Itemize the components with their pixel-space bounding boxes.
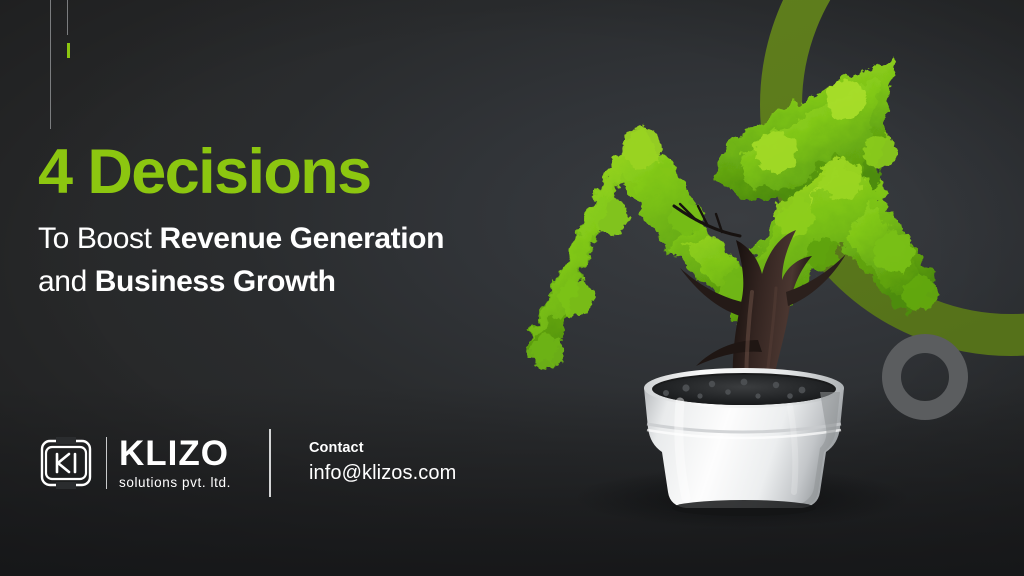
gray-donut-ring [882, 334, 968, 420]
contact-email[interactable]: info@klizos.com [309, 461, 456, 486]
contact-label: Contact [309, 440, 456, 457]
brand-wordmark: KLIZO solutions pvt. ltd. [119, 436, 231, 490]
contact-block: Contact info@klizos.com [309, 440, 456, 485]
page-title: 4 Decisions [38, 140, 508, 204]
green-accent-tick [67, 43, 70, 58]
brand-bar: KLIZO solutions pvt. ltd. Contact info@k… [38, 428, 456, 498]
brand-name: KLIZO [119, 436, 231, 471]
logo-separator [106, 437, 107, 489]
subtitle-line2-bold: Business Growth [95, 265, 336, 298]
brand-tagline: solutions pvt. ltd. [119, 476, 231, 490]
headline-block: 4 Decisions To Boost Revenue Generation … [38, 140, 508, 303]
subtitle-line2-plain: and [38, 265, 95, 298]
poster-canvas: 4 Decisions To Boost Revenue Generation … [0, 0, 1024, 576]
page-subtitle: To Boost Revenue Generation and Business… [38, 218, 508, 303]
vertical-rule-long [50, 0, 51, 129]
klizo-ki-monogram-icon [38, 435, 94, 491]
brand-contact-divider [269, 429, 271, 497]
subtitle-line1-plain: To Boost [38, 222, 159, 255]
vertical-rule-short [67, 0, 68, 35]
subtitle-line1-bold: Revenue Generation [159, 222, 444, 255]
